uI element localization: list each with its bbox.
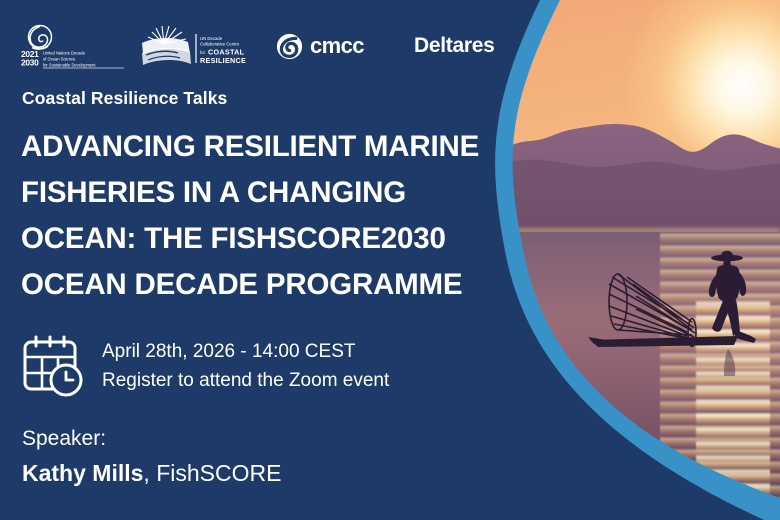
- un-decade-line3: for Sustainable Development: [43, 63, 96, 68]
- series-kicker: Coastal Resilience Talks: [22, 88, 227, 109]
- calendar-clock-icon: [22, 335, 84, 397]
- event-datetime: April 28th, 2026 - 14:00 CEST: [102, 339, 389, 365]
- dcc-line1: UN Decade: [200, 36, 223, 41]
- un-decade-line2: of Ocean Science: [43, 57, 76, 62]
- un-ocean-decade-mark: 2021 2030 United Nations Decade of Ocean…: [20, 23, 126, 69]
- logo-row: 2021 2030 United Nations Decade of Ocean…: [20, 22, 500, 70]
- dcc-line2: Collaborative Centre: [200, 42, 240, 47]
- event-details: April 28th, 2026 - 14:00 CEST Register t…: [22, 335, 389, 397]
- dcc-resilience: RESILIENCE: [200, 56, 246, 65]
- title-line-1: ADVANCING RESILIENT MARINE: [21, 124, 536, 170]
- title-line-3: OCEAN: THE FISHSCORE2030: [21, 216, 536, 262]
- cmcc-logo: cmcc: [276, 33, 384, 60]
- speaker-name: Kathy Mills: [22, 460, 143, 486]
- coastal-resilience-centre-logo: UN Decade Collaborative Centre for COAST…: [134, 23, 252, 69]
- poster-content: 2021 2030 United Nations Decade of Ocean…: [0, 0, 540, 520]
- title-line-2: FISHERIES IN A CHANGING: [21, 170, 536, 216]
- speaker-affiliation: , FishSCORE: [143, 460, 281, 486]
- coastal-resilience-mark: UN Decade Collaborative Centre for COAST…: [134, 23, 252, 69]
- un-decade-year-bottom: 2030: [21, 58, 39, 68]
- webinar-announcement-poster: 2021 2030 United Nations Decade of Ocean…: [0, 0, 780, 520]
- event-registration-note[interactable]: Register to attend the Zoom event: [102, 368, 389, 394]
- deltares-wordmark: Deltares: [414, 34, 494, 58]
- speaker-label: Speaker:: [22, 424, 281, 454]
- cmcc-wave-icon: [276, 33, 303, 60]
- page-title: ADVANCING RESILIENT MARINE FISHERIES IN …: [21, 124, 536, 308]
- event-text-block: April 28th, 2026 - 14:00 CEST Register t…: [102, 339, 389, 394]
- un-ocean-decade-logo: 2021 2030 United Nations Decade of Ocean…: [20, 23, 126, 69]
- dcc-line3: for: [200, 50, 206, 55]
- cmcc-wordmark: cmcc: [310, 33, 364, 59]
- title-line-4: OCEAN DECADE PROGRAMME: [21, 262, 536, 308]
- un-decade-line1: United Nations Decade: [43, 51, 86, 56]
- speaker-block: Speaker: Kathy Mills, FishSCORE: [22, 424, 281, 490]
- speaker-name-row: Kathy Mills, FishSCORE: [22, 456, 281, 490]
- deltares-logo: Deltares: [414, 34, 494, 58]
